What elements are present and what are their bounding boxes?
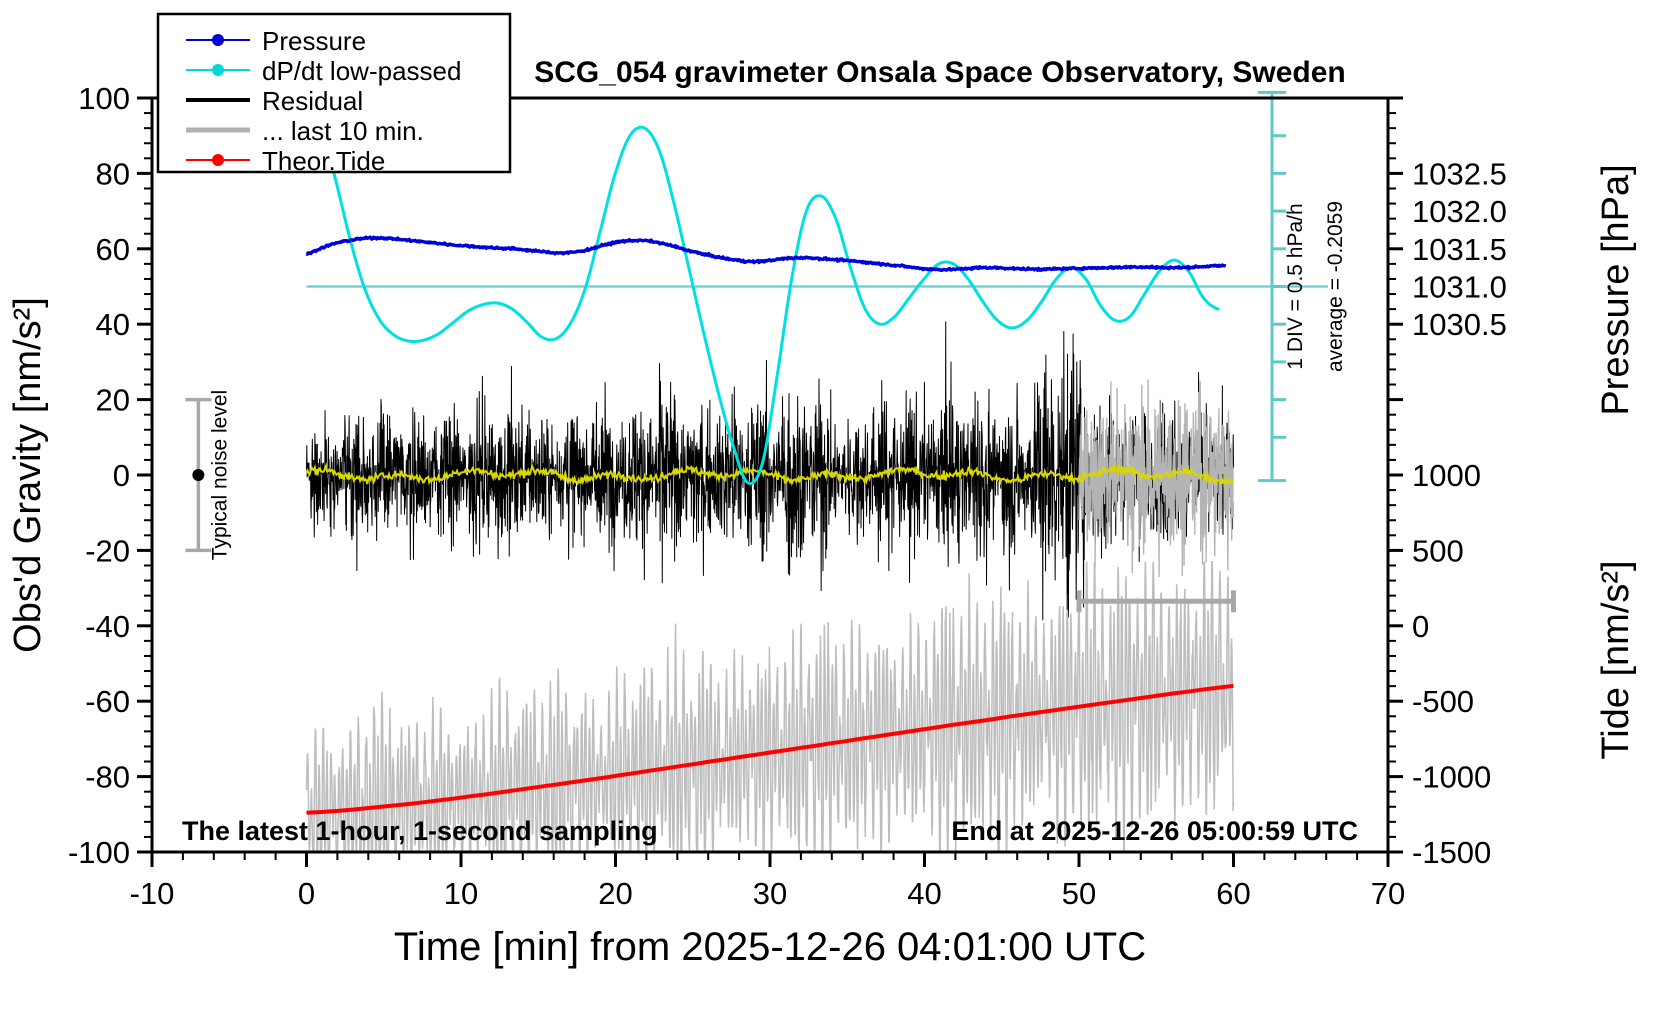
pressure-axis-tick-label: 1031.0 [1412,270,1507,305]
y-axis-tick-label: 40 [96,307,130,342]
x-axis-tick-label: 10 [444,876,478,911]
tide-axis-tick-label: -1000 [1412,760,1491,795]
legend-item-label: Theor.Tide [262,146,385,176]
y-axis-title: Obs'd Gravity [nm/s²] [7,297,49,653]
pressure-axis-tick-label: 1031.5 [1412,232,1507,267]
gravimeter-figure: Typical noise level1 DIV = 0.5 hPa/haver… [0,0,1660,1020]
y-axis-tick-label: 60 [96,232,130,267]
noise-errorbar-center-dot [192,469,204,481]
tide-axis-title: Tide [nm/s²] [1595,560,1637,759]
x-axis-tick-label: -10 [130,876,175,911]
tide-axis-tick-label: 1000 [1412,458,1481,493]
y-axis-tick-label: -80 [85,760,130,795]
legend: PressuredP/dt low-passedResidual... last… [158,14,510,176]
x-axis-tick-label: 0 [298,876,315,911]
legend-marker-dot [212,64,224,76]
x-axis-tick-label: 40 [907,876,941,911]
x-axis-tick-label: 50 [1062,876,1096,911]
pressure-axis-tick-label: 1030.5 [1412,307,1507,342]
y-axis-tick-label: 80 [96,156,130,191]
y-axis-tick-label: -40 [85,609,130,644]
x-axis-tick-label: 30 [753,876,787,911]
legend-marker-dot [212,34,224,46]
legend-item-label: ... last 10 min. [262,116,424,146]
dpdt-average-label: average = -0.2059 [1324,201,1347,372]
footer-right-label: End at 2025-12-26 05:00:59 UTC [951,816,1358,846]
legend-item-label: Pressure [262,26,366,56]
noise-level-label: Typical noise level [208,390,231,560]
pressure-axis-title: Pressure [hPa] [1595,164,1637,415]
x-axis-tick-label: 70 [1371,876,1405,911]
y-axis-tick-label: 0 [113,458,130,493]
x-axis-tick-label: 20 [598,876,632,911]
x-axis-tick-label: 60 [1216,876,1250,911]
chart-root: Typical noise level1 DIV = 0.5 hPa/haver… [0,0,1660,1020]
chart-title: SCG_054 gravimeter Onsala Space Observat… [534,56,1346,89]
legend-item-label: Residual [262,86,363,116]
tide-axis-tick-label: -500 [1412,684,1474,719]
legend-item-label: dP/dt low-passed [262,56,461,86]
dpdt-div-scale-label: 1 DIV = 0.5 hPa/h [1284,203,1307,369]
tide-axis-tick-label: 0 [1412,609,1429,644]
tide-axis-tick-label: 500 [1412,533,1464,568]
y-axis-tick-label: -60 [85,684,130,719]
y-axis-tick-label: 20 [96,383,130,418]
x-axis-title: Time [min] from 2025-12-26 04:01:00 UTC [394,925,1146,969]
legend-marker-dot [212,154,224,166]
y-axis-tick-label: -20 [85,533,130,568]
pressure-axis-tick-label: 1032.5 [1412,156,1507,191]
y-axis-tick-label: 100 [78,81,130,116]
pressure-axis-tick-label: 1032.0 [1412,194,1507,229]
y-axis-tick-label: -100 [68,835,130,870]
footer-left-label: The latest 1-hour, 1-second sampling [182,816,658,846]
tide-axis-tick-label: -1500 [1412,835,1491,870]
